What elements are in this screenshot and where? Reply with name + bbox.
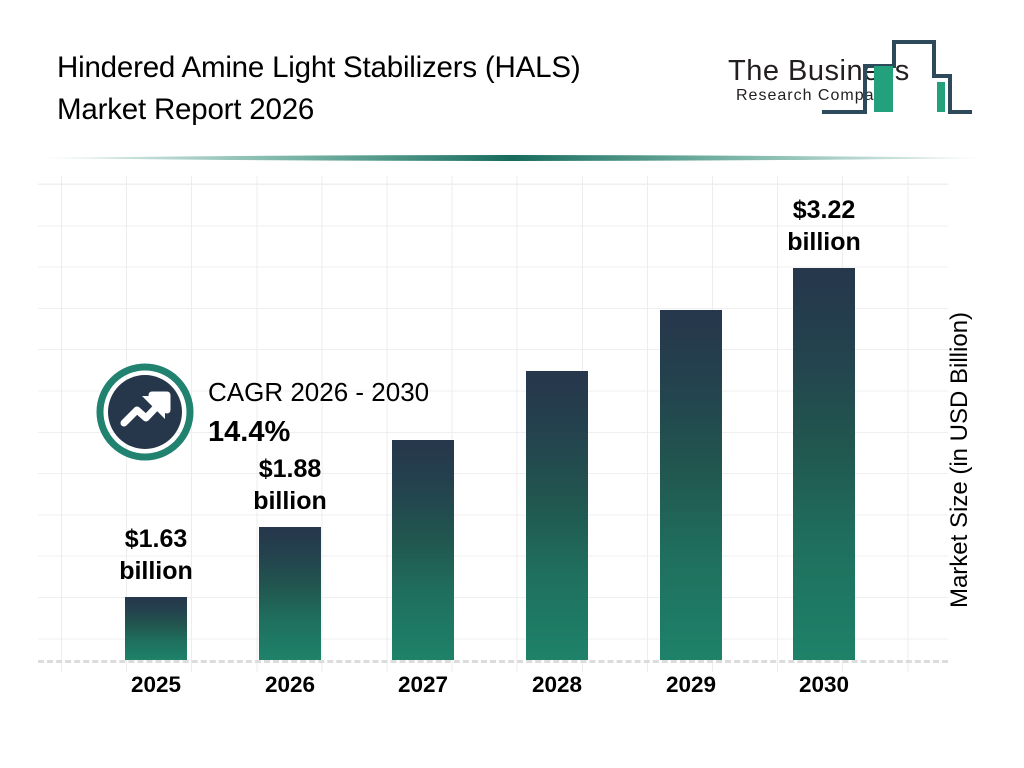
x-tick-2027: 2027: [363, 672, 483, 698]
x-tick-2028: 2028: [497, 672, 617, 698]
bar-group-2030[interactable]: $3.22 billion: [764, 164, 884, 660]
chart-page: Hindered Amine Light Stabilizers (HALS) …: [0, 0, 1024, 768]
cagr-value-label: 14.4%: [208, 412, 508, 452]
page-title: Hindered Amine Light Stabilizers (HALS) …: [57, 47, 717, 131]
logo-name-line2: Research Company: [736, 87, 893, 104]
header: Hindered Amine Light Stabilizers (HALS) …: [0, 0, 1024, 152]
chart-baseline: [38, 660, 948, 663]
bar-chart: $1.63 billion $1.88 billion $3.22 bil: [0, 164, 1024, 768]
bar-2029[interactable]: [660, 310, 722, 660]
bar-label-2025: $1.63 billion: [81, 523, 231, 587]
x-tick-2029: 2029: [631, 672, 751, 698]
header-divider: [38, 152, 986, 164]
trending-up-icon: [96, 363, 194, 461]
bar-label-2030: $3.22 billion: [749, 194, 899, 258]
logo-bar-tall: [874, 66, 893, 112]
cagr-period-label: CAGR 2026 - 2030: [208, 374, 508, 410]
y-axis-title: Market Size (in USD Billion): [940, 260, 980, 660]
x-tick-2030: 2030: [764, 672, 884, 698]
logo-bar-short: [937, 82, 945, 112]
x-tick-2025: 2025: [96, 672, 216, 698]
bar-2028[interactable]: [526, 371, 588, 660]
bar-2025[interactable]: [125, 597, 187, 660]
company-logo: The Business Research Company: [726, 36, 972, 124]
bar-group-2029[interactable]: [631, 164, 751, 660]
bar-2030[interactable]: [793, 268, 855, 660]
cagr-callout: CAGR 2026 - 2030 14.4%: [96, 363, 516, 473]
x-axis: 2025 2026 2027 2028 2029 2030: [0, 672, 1024, 722]
bar-2026[interactable]: [259, 527, 321, 660]
x-tick-2026: 2026: [230, 672, 350, 698]
bar-2027[interactable]: [392, 440, 454, 660]
cagr-text-block: CAGR 2026 - 2030 14.4%: [208, 374, 508, 452]
y-axis-title-text: Market Size (in USD Billion): [946, 312, 974, 608]
badge-fill: [108, 375, 182, 449]
